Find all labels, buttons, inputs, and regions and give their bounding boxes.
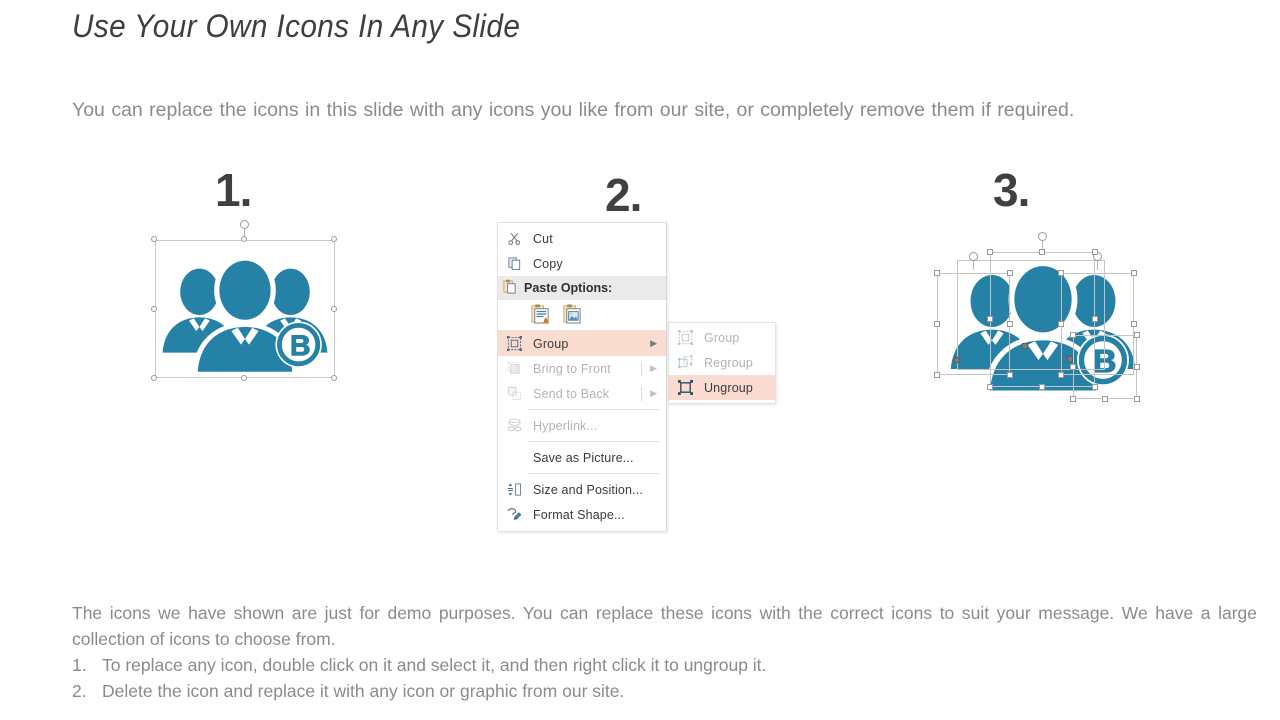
scissors-icon (502, 230, 526, 248)
rotation-stem-right (1097, 260, 1098, 270)
intro-paragraph: You can replace the icons in this slide … (72, 95, 1187, 125)
group-icon (502, 335, 526, 353)
menu-item-format-shape[interactable]: Format Shape... (498, 502, 666, 527)
paste-options-row[interactable] (498, 300, 666, 331)
rotation-stem-left (973, 260, 974, 270)
footer-paragraph: The icons we have shown are just for dem… (72, 600, 1257, 652)
send-to-back-icon (502, 385, 526, 403)
resize-handle[interactable] (1092, 316, 1098, 322)
resize-handle-active[interactable] (954, 357, 960, 363)
submenu-item-ungroup[interactable]: Ungroup (669, 375, 775, 400)
resize-handle-e[interactable] (331, 306, 337, 312)
resize-handle[interactable] (1039, 384, 1045, 390)
ungrouped-icon-panel[interactable] (925, 230, 1145, 415)
copy-icon (502, 255, 526, 273)
menu-item-label: Save as Picture... (526, 451, 634, 465)
context-menu[interactable]: Cut Copy Paste Options: (497, 222, 667, 532)
submenu-item-group[interactable]: Group (669, 325, 775, 350)
menu-header-paste-options: Paste Options: (498, 276, 666, 300)
resize-handle-s[interactable] (241, 375, 247, 381)
size-position-icon (502, 481, 526, 499)
resize-handle[interactable] (987, 384, 993, 390)
resize-handle[interactable] (1058, 270, 1064, 276)
step-number-1: 1. (215, 163, 251, 217)
clipboard-icon (502, 279, 517, 298)
menu-item-save-as-picture[interactable]: Save as Picture... (498, 445, 666, 470)
submenu-item-label: Regroup (697, 356, 753, 370)
ungroup-icon (673, 379, 697, 397)
step-number-2: 2. (605, 168, 641, 222)
menu-item-label: Bring to Front (526, 362, 611, 376)
menu-separator (528, 473, 660, 474)
no-icon (502, 449, 526, 467)
rotate-handle[interactable] (240, 220, 249, 229)
sub-selection-outer-bounds[interactable] (957, 260, 1105, 370)
menu-item-label: Cut (526, 232, 553, 246)
list-item-number: 1. (72, 652, 92, 678)
format-shape-icon (502, 506, 526, 524)
menu-item-label: Format Shape... (526, 508, 625, 522)
people-group-icon (161, 250, 329, 372)
resize-handle[interactable] (934, 372, 940, 378)
menu-item-bring-to-front[interactable]: Bring to Front ▶ (498, 356, 666, 381)
resize-handle-w[interactable] (151, 306, 157, 312)
step-number-3: 3. (993, 163, 1029, 217)
menu-item-label: Hyperlink... (526, 419, 597, 433)
resize-handle[interactable] (1070, 396, 1076, 402)
resize-handle-active[interactable] (1067, 356, 1073, 362)
resize-handle-nw[interactable] (151, 236, 157, 242)
menu-item-group[interactable]: Group ▶ (498, 331, 666, 356)
resize-handle[interactable] (1070, 332, 1076, 338)
resize-handle[interactable] (1092, 249, 1098, 255)
resize-handle[interactable] (1134, 396, 1140, 402)
resize-handle-active[interactable] (1022, 343, 1028, 349)
menu-item-send-to-back[interactable]: Send to Back ▶ (498, 381, 666, 406)
resize-handle[interactable] (1039, 249, 1045, 255)
regroup-icon (673, 354, 697, 372)
paste-keep-source-formatting-icon[interactable] (530, 303, 551, 328)
menu-item-label: Send to Back (526, 387, 609, 401)
menu-separator (528, 409, 660, 410)
resize-handle[interactable] (1092, 384, 1098, 390)
group-icon (673, 329, 697, 347)
menu-item-label: Size and Position... (526, 483, 643, 497)
bring-to-front-icon (502, 360, 526, 378)
resize-handle-sw[interactable] (151, 375, 157, 381)
resize-handle[interactable] (987, 249, 993, 255)
menu-item-copy[interactable]: Copy (498, 251, 666, 276)
resize-handle-n[interactable] (241, 236, 247, 242)
group-submenu[interactable]: Group Regroup Ungroup (668, 322, 776, 404)
paste-picture-icon[interactable] (562, 303, 583, 328)
grouped-icon-panel[interactable] (155, 240, 335, 378)
hyperlink-icon (502, 417, 526, 435)
menu-header-label: Paste Options: (517, 281, 612, 295)
resize-handle[interactable] (1007, 372, 1013, 378)
resize-handle[interactable] (1131, 270, 1137, 276)
submenu-item-regroup[interactable]: Regroup (669, 350, 775, 375)
list-item: 1. To replace any icon, double click on … (72, 652, 1257, 678)
rotate-handle-left[interactable] (969, 252, 978, 261)
resize-handle[interactable] (1131, 321, 1137, 327)
resize-handle[interactable] (1007, 270, 1013, 276)
page-title: Use Your Own Icons In Any Slide (72, 8, 520, 45)
menu-item-label: Copy (526, 257, 563, 271)
resize-handle[interactable] (1102, 396, 1108, 402)
menu-item-size-and-position[interactable]: Size and Position... (498, 477, 666, 502)
menu-item-cut[interactable]: Cut (498, 226, 666, 251)
resize-handle[interactable] (1058, 372, 1064, 378)
resize-handle[interactable] (1058, 321, 1064, 327)
menu-divider (641, 361, 642, 376)
menu-divider (641, 386, 642, 401)
list-item-number: 2. (72, 678, 92, 704)
submenu-item-label: Group (697, 331, 740, 345)
resize-handle[interactable] (1134, 332, 1140, 338)
resize-handle[interactable] (934, 270, 940, 276)
menu-separator (528, 441, 660, 442)
chevron-right-icon: ▶ (650, 364, 657, 373)
chevron-right-icon: ▶ (650, 389, 657, 398)
resize-handle-ne[interactable] (331, 236, 337, 242)
list-item-text: To replace any icon, double click on it … (102, 652, 766, 678)
resize-handle-se[interactable] (331, 375, 337, 381)
footer-list: 1. To replace any icon, double click on … (72, 652, 1257, 704)
resize-handle[interactable] (1070, 364, 1076, 370)
resize-handle[interactable] (987, 316, 993, 322)
list-item: 2. Delete the icon and replace it with a… (72, 678, 1257, 704)
menu-item-label: Group (526, 337, 569, 351)
menu-item-hyperlink[interactable]: Hyperlink... (498, 413, 666, 438)
chevron-right-icon: ▶ (650, 339, 657, 348)
resize-handle[interactable] (1007, 321, 1013, 327)
resize-handle[interactable] (934, 321, 940, 327)
resize-handle[interactable] (1134, 364, 1140, 370)
list-item-text: Delete the icon and replace it with any … (102, 678, 624, 704)
submenu-item-label: Ungroup (697, 381, 753, 395)
footer-text-block: The icons we have shown are just for dem… (72, 600, 1257, 704)
rotate-handle-center[interactable] (1038, 232, 1047, 241)
